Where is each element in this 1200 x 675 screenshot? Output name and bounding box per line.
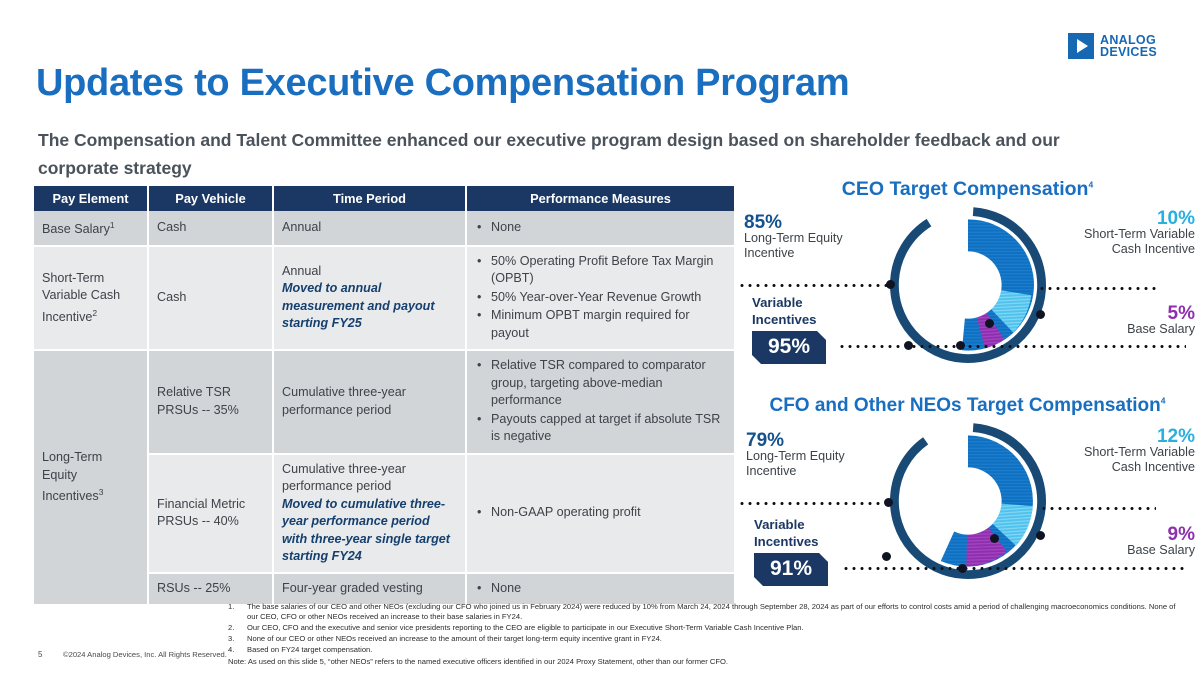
footnote-ref: 3 xyxy=(99,487,104,497)
footnote-item: 1. The base salaries of our CEO and othe… xyxy=(228,602,1178,623)
legend-pct: 12% xyxy=(1063,429,1195,445)
cell-pay-vehicle: Cash xyxy=(148,211,273,246)
cell-pay-element: Short-Term Variable Cash Incentive2 xyxy=(34,246,148,351)
page-subtitle: The Compensation and Talent Committee en… xyxy=(38,126,1108,182)
cell-pay-vehicle: Relative TSR PRSUs -- 35% xyxy=(148,350,273,454)
measure-item: None xyxy=(489,219,726,237)
legend-pct: 9% xyxy=(1063,527,1195,543)
legend-text: Short-Term Variable Cash Incentive xyxy=(1084,445,1195,475)
logo-triangle-icon xyxy=(1068,33,1094,59)
column-header-performance-measures: Performance Measures xyxy=(466,186,734,211)
legend-short-term-variable-cash: 12% Short-Term Variable Cash Incentive xyxy=(1063,429,1195,476)
cell-performance-measures: Non-GAAP operating profit xyxy=(466,454,734,573)
footnote-item: 4. Based on FY24 target compensation. xyxy=(228,645,1178,655)
leader-dot xyxy=(884,498,893,507)
slide-number: 5 xyxy=(38,650,42,659)
footnote-text: Based on FY24 target compensation. xyxy=(247,645,372,655)
cell-performance-measures: None xyxy=(466,211,734,246)
footnote-ref: 4 xyxy=(1161,396,1166,406)
footnote-text: None of our CEO or other NEOs received a… xyxy=(247,634,662,644)
leader-line xyxy=(738,284,888,287)
leader-line xyxy=(838,345,1186,348)
footnote-number: 1. xyxy=(228,602,238,623)
chart-title: CEO Target Compensation4 xyxy=(740,178,1195,201)
table-row: Base Salary1 Cash Annual None xyxy=(34,211,734,246)
cell-time-period: Four-year graded vesting xyxy=(273,573,466,606)
variable-incentives-label: Variable Incentives xyxy=(754,516,864,550)
donut-area: 85% Long-Term Equity Incentive 10% Short… xyxy=(740,205,1195,365)
cell-performance-measures: None xyxy=(466,573,734,606)
measure-item: Relative TSR compared to comparator grou… xyxy=(489,357,726,410)
chart-title: CFO and Other NEOs Target Compensation4 xyxy=(740,395,1195,417)
leader-dot xyxy=(985,319,994,328)
cfo-and-other-neos-target-compensation-chart: CFO and Other NEOs Target Compensation4 … xyxy=(740,395,1195,600)
legend-text: Base Salary xyxy=(1127,322,1195,336)
time-period-text: Cumulative three-year performance period xyxy=(282,462,406,494)
page-title: Updates to Executive Compensation Progra… xyxy=(36,62,849,105)
variable-incentives-badge: 95% xyxy=(752,331,826,364)
legend-text: Base Salary xyxy=(1127,543,1195,557)
chart-title-text: CEO Target Compensation xyxy=(842,178,1089,200)
measure-item: Payouts capped at target if absolute TSR… xyxy=(489,411,726,446)
pay-elements-table: Pay Element Pay Vehicle Time Period Perf… xyxy=(34,186,734,606)
donut-area: 79% Long-Term Equity Incentive 12% Short… xyxy=(740,421,1195,581)
footnote-note: Note: As used on this slide 5, “other NE… xyxy=(228,657,1178,667)
cell-pay-vehicle: Cash xyxy=(148,246,273,351)
cell-time-period: Cumulative three-year performance period xyxy=(273,350,466,454)
table-header-row: Pay Element Pay Vehicle Time Period Perf… xyxy=(34,186,734,211)
cell-time-period: Cumulative three-year performance period… xyxy=(273,454,466,573)
leader-dot xyxy=(990,534,999,543)
legend-text: Short-Term Variable Cash Incentive xyxy=(1084,227,1195,257)
leader-line xyxy=(1040,507,1156,510)
cfo-donut-svg xyxy=(888,421,1048,581)
legend-text: Long-Term Equity Incentive xyxy=(746,449,845,479)
logo-word-devices: DEVICES xyxy=(1100,46,1157,59)
legend-pct: 5% xyxy=(1063,306,1195,322)
column-header-pay-element: Pay Element xyxy=(34,186,148,211)
leader-dot xyxy=(958,564,967,573)
time-period-change-note: Moved to cumulative three-year performan… xyxy=(282,496,457,566)
cell-performance-measures: 50% Operating Profit Before Tax Margin (… xyxy=(466,246,734,351)
analog-devices-logo: ANALOG DEVICES xyxy=(1068,33,1157,59)
cell-pay-vehicle: RSUs -- 25% xyxy=(148,573,273,606)
cell-time-period: Annual Moved to annual measurement and p… xyxy=(273,246,466,351)
leader-line xyxy=(842,567,1186,570)
measure-item: Minimum OPBT margin required for payout xyxy=(489,307,726,342)
leader-line xyxy=(1038,287,1156,290)
cell-time-period: Annual xyxy=(273,211,466,246)
variable-incentives-label: Variable Incentives xyxy=(752,294,862,328)
measure-item: Non-GAAP operating profit xyxy=(489,504,726,522)
footnote-number: 2. xyxy=(228,623,238,633)
measure-item: 50% Operating Profit Before Tax Margin (… xyxy=(489,253,726,288)
measure-item: 50% Year-over-Year Revenue Growth xyxy=(489,289,726,307)
footnotes: 1. The base salaries of our CEO and othe… xyxy=(228,602,1178,667)
leader-dot xyxy=(1036,531,1045,540)
footnote-item: 3. None of our CEO or other NEOs receive… xyxy=(228,634,1178,644)
legend-long-term-equity: 85% Long-Term Equity Incentive xyxy=(744,215,874,262)
time-period-change-note: Moved to annual measurement and payout s… xyxy=(282,280,457,333)
legend-short-term-variable-cash: 10% Short-Term Variable Cash Incentive xyxy=(1063,211,1195,258)
logo-wordmark: ANALOG DEVICES xyxy=(1100,34,1157,59)
leader-line xyxy=(738,502,886,505)
footnote-text: The base salaries of our CEO and other N… xyxy=(247,602,1178,623)
footnote-number: 4. xyxy=(228,645,238,655)
leader-dot xyxy=(904,341,913,350)
cell-pay-element: Base Salary1 xyxy=(34,211,148,246)
measure-item: None xyxy=(489,580,726,598)
column-header-pay-vehicle: Pay Vehicle xyxy=(148,186,273,211)
footnote-text: Our CEO, CFO and the executive and senio… xyxy=(247,623,804,633)
table-row: Long-Term Equity Incentives3 Relative TS… xyxy=(34,350,734,454)
legend-text: Long-Term Equity Incentive xyxy=(744,231,843,261)
pay-element-label: Long-Term Equity Incentives xyxy=(42,450,102,503)
cell-pay-element: Long-Term Equity Incentives3 xyxy=(34,350,148,605)
table-row: Short-Term Variable Cash Incentive2 Cash… xyxy=(34,246,734,351)
footnote-ref: 1 xyxy=(110,220,115,230)
legend-long-term-equity: 79% Long-Term Equity Incentive xyxy=(746,433,876,480)
ceo-target-compensation-chart: CEO Target Compensation4 xyxy=(740,178,1195,378)
legend-pct: 79% xyxy=(746,433,876,449)
legend-pct: 10% xyxy=(1063,211,1195,227)
cell-pay-vehicle: Financial Metric PRSUs -- 40% xyxy=(148,454,273,573)
column-header-time-period: Time Period xyxy=(273,186,466,211)
pay-element-label: Base Salary xyxy=(42,222,110,236)
pay-element-label: Short-Term Variable Cash Incentive xyxy=(42,271,120,324)
cell-performance-measures: Relative TSR compared to comparator grou… xyxy=(466,350,734,454)
leader-dot xyxy=(1036,310,1045,319)
leader-dot xyxy=(956,341,965,350)
legend-pct: 85% xyxy=(744,215,874,231)
footnote-number: 3. xyxy=(228,634,238,644)
chart-title-text: CFO and Other NEOs Target Compensation xyxy=(769,395,1160,416)
leader-dot xyxy=(886,280,895,289)
footnote-ref: 2 xyxy=(92,308,97,318)
variable-incentives-badge: 91% xyxy=(754,553,828,586)
ceo-donut-svg xyxy=(888,205,1048,365)
leader-dot xyxy=(882,552,891,561)
footnote-item: 2. Our CEO, CFO and the executive and se… xyxy=(228,623,1178,633)
time-period-text: Annual xyxy=(282,264,321,278)
legend-base-salary: 5% Base Salary xyxy=(1063,306,1195,337)
copyright-text: ©2024 Analog Devices, Inc. All Rights Re… xyxy=(63,650,227,659)
legend-base-salary: 9% Base Salary xyxy=(1063,527,1195,558)
footnote-ref: 4 xyxy=(1088,180,1093,190)
